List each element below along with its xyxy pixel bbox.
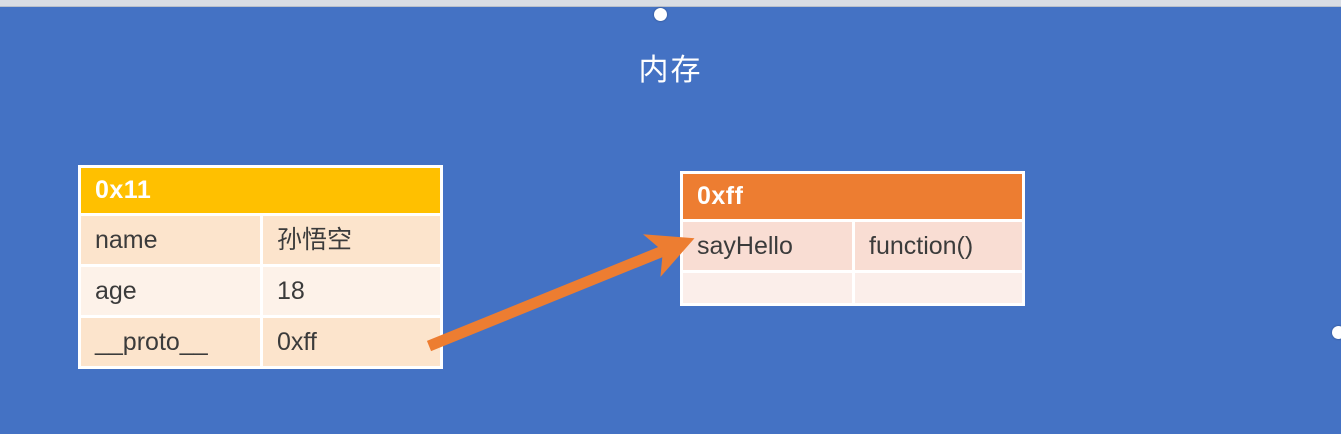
property-key: sayHello	[683, 222, 855, 270]
property-key: name	[81, 216, 263, 264]
property-key	[683, 273, 855, 303]
table-row[interactable]: age 18	[81, 264, 440, 315]
handle-right-middle[interactable]	[1332, 326, 1341, 339]
property-value: 孙悟空	[263, 216, 440, 264]
memory-block-address-header: 0x11	[81, 168, 440, 213]
property-value: 18	[263, 267, 440, 315]
slide-canvas[interactable]: 内存 0x11 name 孙悟空 age 18 __proto__ 0xff 0…	[0, 8, 1341, 434]
property-value: function()	[855, 222, 1022, 270]
table-row[interactable]: name 孙悟空	[81, 213, 440, 264]
page-title: 内存	[0, 50, 1341, 92]
window-top-strip	[0, 0, 1341, 7]
handle-top-center[interactable]	[654, 8, 667, 21]
property-key: age	[81, 267, 263, 315]
property-value	[855, 273, 1022, 303]
proto-pointer-arrow-icon	[410, 218, 710, 378]
table-row[interactable]	[683, 270, 1022, 303]
property-key: __proto__	[81, 318, 263, 366]
slide-canvas-stage: 内存 0x11 name 孙悟空 age 18 __proto__ 0xff 0…	[0, 0, 1341, 434]
memory-block-object[interactable]: 0x11 name 孙悟空 age 18 __proto__ 0xff	[78, 165, 443, 369]
property-value: 0xff	[263, 318, 440, 366]
table-row[interactable]: __proto__ 0xff	[81, 315, 440, 366]
memory-block-address-header: 0xff	[683, 174, 1022, 219]
table-row[interactable]: sayHello function()	[683, 219, 1022, 270]
memory-block-prototype[interactable]: 0xff sayHello function()	[680, 171, 1025, 306]
